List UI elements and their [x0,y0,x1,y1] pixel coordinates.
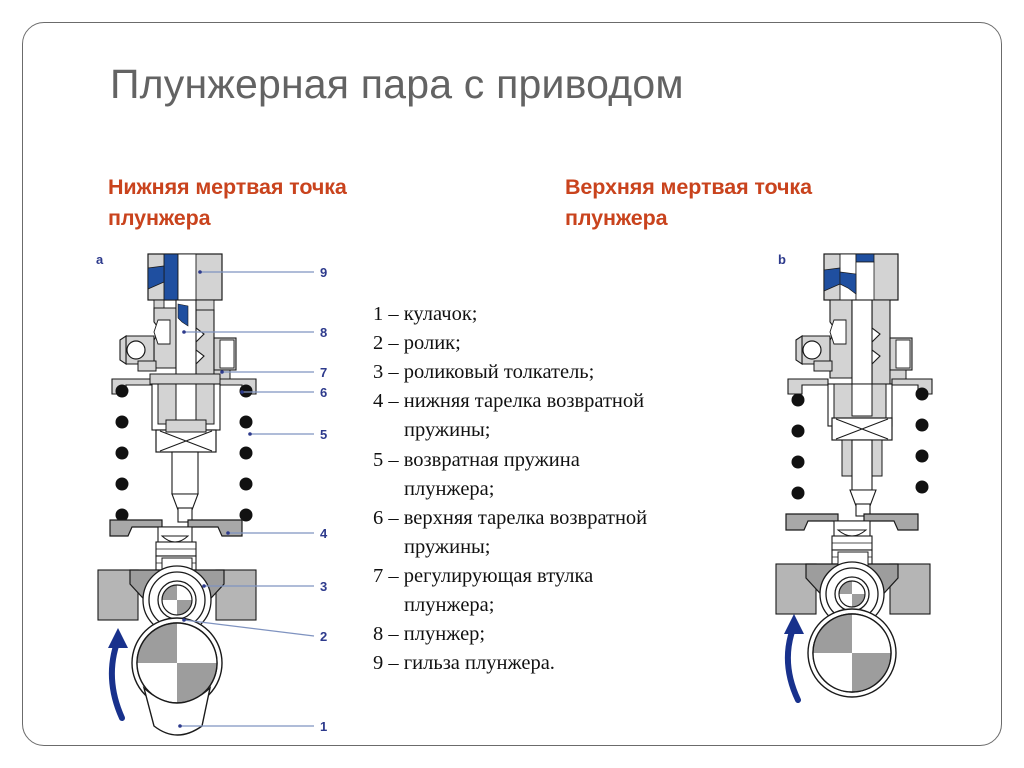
legend-item-text: 3 – роликовый толкатель; [373,361,594,383]
diagram-left-bdc: 9 8 7 6 5 4 3 2 1 a [92,248,352,753]
legend-item: 9 – гильза плунжера. [373,649,773,678]
legend-item: 1 – кулачок; [373,300,773,329]
lug-bracket-right-panel [796,336,832,371]
panel-letter-a: a [96,252,103,267]
cam-lobe-right [808,609,896,697]
legend-item-continuation: пружины; [373,533,773,562]
legend-item: 3 – роликовый толкатель; [373,358,773,387]
rotation-arrow-icon [108,628,128,718]
legend-item-continuation: плунжера; [373,591,773,620]
legend-item-continuation: плунжера; [373,475,773,504]
legend-item: 7 – регулирующая втулка [373,562,773,591]
slide-root: Плунжерная пара с приводом Нижняя мертва… [0,0,1024,768]
rotation-arrow-icon-right [784,614,804,700]
legend-item-continuation: пружины; [373,416,773,445]
legend-list: 1 – кулачок;2 – ролик;3 – роликовый толк… [373,300,773,678]
plunger-lower-body-right [828,384,892,516]
legend-item-text: 6 – верхняя тарелка возвратной [373,507,647,529]
legend-item-text: 4 – нижняя тарелка возвратной [373,390,644,412]
lower-spring-plate-right [786,514,918,536]
cam-lobe [132,618,222,735]
callout-1: 1 [320,719,327,734]
diagram-right-tdc: b [772,248,972,708]
callout-4: 4 [320,526,328,541]
lug-bracket-left [120,336,156,371]
callout-9: 9 [320,265,327,280]
legend-item: 8 – плунжер; [373,620,773,649]
adjusting-sleeve-right-panel [890,338,912,384]
legend-item-text: 7 – регулирующая втулка [373,565,593,587]
lower-spring-plate [110,520,242,542]
legend-item: 6 – верхняя тарелка возвратной [373,504,773,533]
legend-item-text: 8 – плунжер; [373,623,485,645]
subtitle-left: Нижняя мертвая точка плунжера [108,172,408,233]
callout-7: 7 [320,365,327,380]
legend-item: 2 – ролик; [373,329,773,358]
callout-3: 3 [320,579,327,594]
plunger-lower-body [152,384,220,522]
callout-6: 6 [320,385,327,400]
legend-item-text: 9 – гильза плунжера. [373,652,555,674]
page-title: Плунжерная пара с приводом [110,62,930,107]
legend-item-text: 1 – кулачок; [373,303,478,325]
callout-5: 5 [320,427,327,442]
legend-item: 4 – нижняя тарелка возвратной [373,387,773,416]
callout-2: 2 [320,629,327,644]
callout-8: 8 [320,325,327,340]
legend-item-text: 5 – возвратная пружина [373,449,580,471]
panel-letter-b: b [778,252,786,267]
subtitle-right: Верхняя мертвая точка плунжера [565,172,895,233]
legend-item-text: 2 – ролик; [373,332,461,354]
plunger-sleeve-group-right [824,254,898,300]
legend-item: 5 – возвратная пружина [373,446,773,475]
